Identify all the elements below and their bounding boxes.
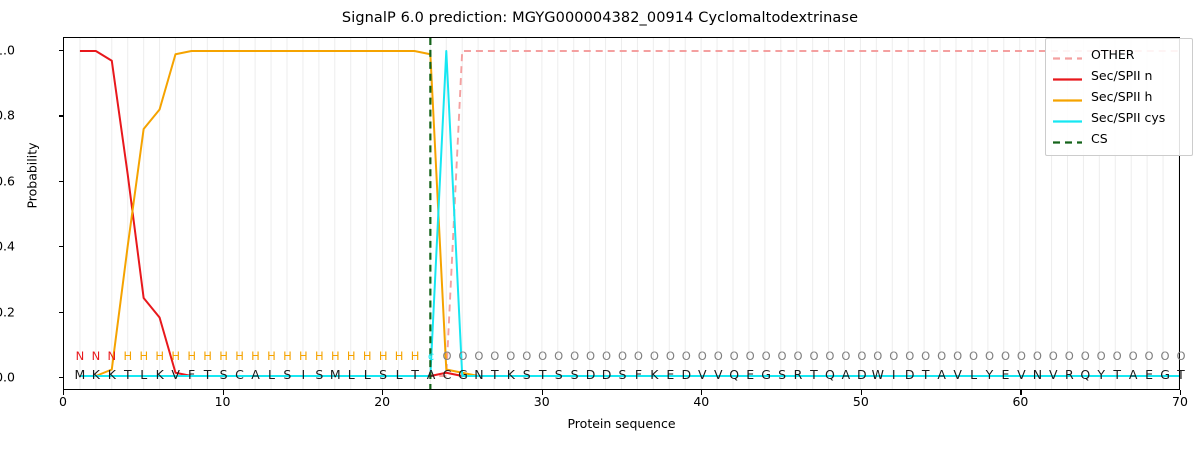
region-letter: O <box>1017 349 1026 363</box>
legend-label: OTHER <box>1091 47 1134 62</box>
residue-letter: T <box>1113 367 1121 382</box>
residue-letter: T <box>922 367 930 382</box>
legend-label: CS <box>1091 131 1108 146</box>
region-letter: O <box>586 349 595 363</box>
legend-label: Sec/SPII cys <box>1091 110 1165 125</box>
region-letter: H <box>363 349 372 363</box>
residue-letter: V <box>1017 367 1026 382</box>
residue-letter: E <box>746 367 754 382</box>
residue-letter: T <box>1177 367 1185 382</box>
y-tick-label: 0.4 <box>0 239 15 254</box>
region-letter: H <box>299 349 308 363</box>
region-letter: H <box>235 349 244 363</box>
region-letter: O <box>1065 349 1074 363</box>
region-letter: O <box>1113 349 1122 363</box>
residue-letter: E <box>1145 367 1153 382</box>
y-tick-mark <box>59 181 64 182</box>
residue-letter: C <box>235 367 244 382</box>
region-letter: O <box>458 349 467 363</box>
x-tick-label: 30 <box>534 394 550 409</box>
region-letter: H <box>219 349 228 363</box>
residue-letter: G <box>1160 367 1170 382</box>
region-letter: O <box>841 349 850 363</box>
x-tick-mark <box>63 390 64 395</box>
region-letter: H <box>267 349 276 363</box>
y-axis-label: Probability <box>25 96 40 256</box>
residue-letter: K <box>650 367 658 382</box>
residue-letter: F <box>188 367 195 382</box>
residue-letter: L <box>364 367 371 382</box>
residue-letter: S <box>778 367 786 382</box>
legend-swatch-icon <box>1052 70 1083 81</box>
series-other <box>80 51 1179 376</box>
x-tick-label: 10 <box>215 394 231 409</box>
region-letter: O <box>538 349 547 363</box>
series-sec-spii-cys <box>80 51 1179 376</box>
region-letter: O <box>969 349 978 363</box>
residue-letter: T <box>411 367 419 382</box>
x-tick-label: 50 <box>853 394 869 409</box>
region-letter: O <box>474 349 483 363</box>
residue-letter: R <box>794 367 803 382</box>
legend-item[interactable]: CS <box>1052 128 1186 149</box>
residue-letter: R <box>1065 367 1074 382</box>
residue-letter: A <box>427 367 436 382</box>
x-axis-label: Protein sequence <box>63 416 1180 431</box>
legend-item[interactable]: Sec/SPII cys <box>1052 107 1186 128</box>
residue-letter: N <box>474 367 483 382</box>
residue-letter: K <box>507 367 515 382</box>
x-tick-label: 70 <box>1172 394 1188 409</box>
x-tick-mark <box>1020 390 1021 395</box>
region-letter: O <box>793 349 802 363</box>
residue-letter: L <box>348 367 355 382</box>
region-letter: O <box>490 349 499 363</box>
region-letter: O <box>1049 349 1058 363</box>
region-letter: H <box>124 349 133 363</box>
region-annotation-row: NNNHHHHHHHHHHHHHHHHHHHcOOOOOOOOOOOOOOOOO… <box>64 349 1179 364</box>
region-letter: O <box>650 349 659 363</box>
region-letter: O <box>762 349 771 363</box>
residue-letter: V <box>953 367 962 382</box>
region-letter: H <box>347 349 356 363</box>
region-letter: H <box>395 349 404 363</box>
residue-letter: D <box>905 367 915 382</box>
residue-letter: L <box>970 367 977 382</box>
region-letter: O <box>873 349 882 363</box>
y-tick-mark <box>59 246 64 247</box>
residue-letter: K <box>92 367 100 382</box>
residue-letter: V <box>1049 367 1058 382</box>
region-letter: N <box>92 349 101 363</box>
region-letter: N <box>76 349 85 363</box>
chart-legend: OTHERSec/SPII nSec/SPII hSec/SPII cysCS <box>1045 38 1193 156</box>
legend-item[interactable]: Sec/SPII n <box>1052 65 1186 86</box>
residue-letter: S <box>619 367 627 382</box>
legend-label: Sec/SPII h <box>1091 89 1152 104</box>
residue-letter: Q <box>729 367 739 382</box>
legend-item[interactable]: OTHER <box>1052 44 1186 65</box>
region-letter: O <box>857 349 866 363</box>
series-sec-spii-h <box>80 51 1179 376</box>
region-letter: H <box>155 349 164 363</box>
residue-letter: A <box>1129 367 1138 382</box>
region-letter: O <box>634 349 643 363</box>
y-tick-label: 0.8 <box>0 108 15 123</box>
x-tick-label: 60 <box>1012 394 1028 409</box>
residue-letter: V <box>171 367 180 382</box>
residue-letter: D <box>586 367 596 382</box>
legend-swatch-icon <box>1052 91 1083 102</box>
page-title: SignalP 6.0 prediction: MGYG000004382_00… <box>0 10 1200 26</box>
legend-swatch-icon <box>1052 112 1083 123</box>
region-letter: H <box>283 349 292 363</box>
region-letter: O <box>937 349 946 363</box>
residue-letter: S <box>220 367 228 382</box>
y-tick-mark <box>59 377 64 378</box>
residue-letter: Q <box>1080 367 1090 382</box>
region-letter: O <box>778 349 787 363</box>
residue-letter: T <box>539 367 547 382</box>
residue-letter: T <box>124 367 132 382</box>
x-tick-label: 20 <box>374 394 390 409</box>
residue-letter: C <box>443 367 452 382</box>
region-letter: O <box>1176 349 1185 363</box>
residue-letter: I <box>892 367 896 382</box>
residue-letter: A <box>842 367 851 382</box>
x-tick-mark <box>701 390 702 395</box>
x-tick-mark <box>382 390 383 395</box>
plot-area: NNNHHHHHHHHHHHHHHHHHHHcOOOOOOOOOOOOOOOOO… <box>63 37 1180 390</box>
y-tick-label: 0.2 <box>0 304 15 319</box>
region-letter: O <box>746 349 755 363</box>
residue-letter: M <box>75 367 86 382</box>
region-letter: O <box>730 349 739 363</box>
region-letter: O <box>682 349 691 363</box>
x-tick-label: 0 <box>59 394 67 409</box>
residue-letter: V <box>714 367 723 382</box>
residue-letter: E <box>1002 367 1010 382</box>
residue-letter: M <box>330 367 341 382</box>
region-letter: O <box>442 349 451 363</box>
residue-letter: Q <box>825 367 835 382</box>
x-tick-mark <box>861 390 862 395</box>
region-letter: O <box>522 349 531 363</box>
y-tick-mark <box>59 50 64 51</box>
residue-letter: G <box>458 367 468 382</box>
region-letter: H <box>315 349 324 363</box>
region-letter: H <box>251 349 260 363</box>
x-tick-mark <box>1180 390 1181 395</box>
region-letter: O <box>953 349 962 363</box>
region-letter: O <box>698 349 707 363</box>
region-letter: O <box>1081 349 1090 363</box>
residue-letter: G <box>761 367 771 382</box>
region-letter: O <box>554 349 563 363</box>
y-tick-mark <box>59 312 64 313</box>
region-letter: O <box>602 349 611 363</box>
residue-letter: S <box>571 367 579 382</box>
x-tick-mark <box>223 390 224 395</box>
region-letter: H <box>331 349 340 363</box>
residue-letter: I <box>302 367 306 382</box>
residue-letter: T <box>491 367 499 382</box>
legend-item[interactable]: Sec/SPII h <box>1052 86 1186 107</box>
residue-letter: L <box>140 367 147 382</box>
region-letter: O <box>985 349 994 363</box>
residue-letter: E <box>666 367 674 382</box>
region-letter: O <box>809 349 818 363</box>
region-letter: O <box>506 349 515 363</box>
region-letter: O <box>1145 349 1154 363</box>
residue-letter: A <box>937 367 946 382</box>
residue-letter: S <box>315 367 323 382</box>
region-letter: H <box>203 349 212 363</box>
residue-sequence-row: MKKTLKVFTSCALSISMLLSLTACGNTKSTSSDDSFKEDV… <box>64 367 1179 382</box>
y-tick-label: 0.0 <box>0 369 15 384</box>
y-tick-label: 0.6 <box>0 173 15 188</box>
region-letter: O <box>905 349 914 363</box>
residue-letter: L <box>268 367 275 382</box>
residue-letter: T <box>810 367 818 382</box>
residue-letter: D <box>857 367 867 382</box>
residue-letter: T <box>204 367 212 382</box>
region-letter: H <box>187 349 196 363</box>
legend-swatch-icon <box>1052 133 1083 144</box>
region-letter: H <box>411 349 420 363</box>
residue-letter: A <box>251 367 260 382</box>
region-letter: O <box>1129 349 1138 363</box>
region-letter: H <box>139 349 148 363</box>
residue-letter: W <box>872 367 884 382</box>
residue-letter: D <box>682 367 692 382</box>
region-letter: O <box>1033 349 1042 363</box>
residue-letter: V <box>698 367 707 382</box>
region-letter: O <box>1001 349 1010 363</box>
region-letter: O <box>825 349 834 363</box>
residue-letter: S <box>379 367 387 382</box>
residue-letter: S <box>283 367 291 382</box>
region-letter: O <box>618 349 627 363</box>
residue-letter: S <box>555 367 563 382</box>
region-letter: H <box>171 349 180 363</box>
residue-letter: Y <box>986 367 994 382</box>
region-letter: O <box>889 349 898 363</box>
legend-swatch-icon <box>1052 49 1083 60</box>
region-letter: O <box>570 349 579 363</box>
region-letter: N <box>108 349 117 363</box>
series-layer <box>64 38 1179 389</box>
region-letter: O <box>921 349 930 363</box>
region-letter: c <box>428 349 434 363</box>
residue-letter: L <box>396 367 403 382</box>
residue-letter: D <box>602 367 612 382</box>
region-letter: O <box>1161 349 1170 363</box>
residue-letter: N <box>1033 367 1042 382</box>
region-letter: H <box>379 349 388 363</box>
y-tick-mark <box>59 115 64 116</box>
residue-letter: K <box>108 367 116 382</box>
signalp-prediction-figure: SignalP 6.0 prediction: MGYG000004382_00… <box>0 0 1200 450</box>
region-letter: O <box>666 349 675 363</box>
residue-letter: Y <box>1097 367 1105 382</box>
x-tick-mark <box>542 390 543 395</box>
series-sec-spii-n <box>80 51 1179 376</box>
residue-letter: S <box>523 367 531 382</box>
region-letter: O <box>714 349 723 363</box>
legend-label: Sec/SPII n <box>1091 68 1152 83</box>
residue-letter: F <box>635 367 642 382</box>
x-tick-label: 40 <box>693 394 709 409</box>
residue-letter: K <box>156 367 164 382</box>
region-letter: O <box>1097 349 1106 363</box>
y-tick-label: 1.0 <box>0 43 15 58</box>
